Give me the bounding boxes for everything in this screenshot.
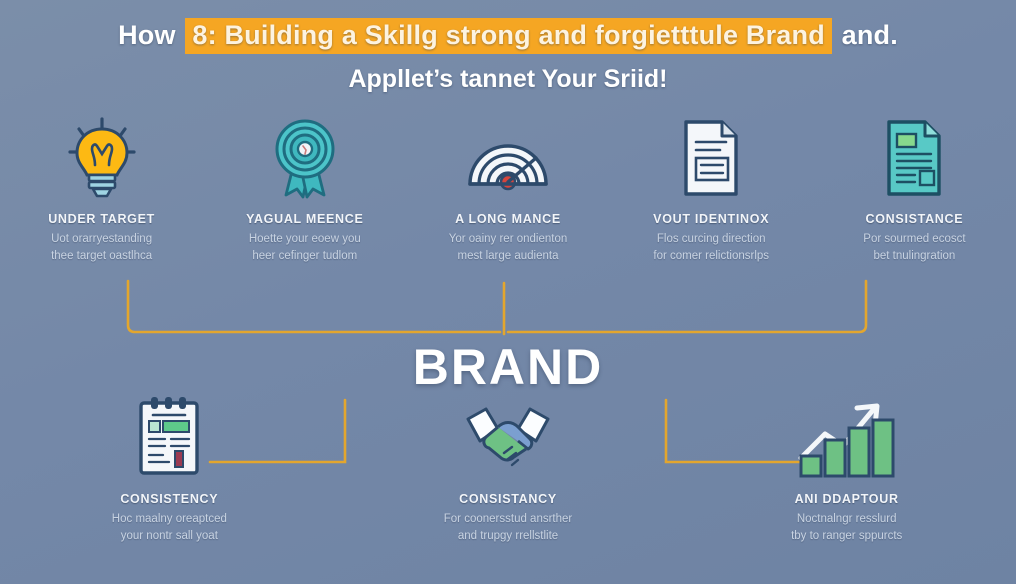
target-dartboard-icon — [464, 112, 552, 204]
info-item[interactable]: A LONG MANCE Yor oainy rer ondienton mes… — [406, 112, 609, 264]
item-title: VOUT IDENTINOX — [653, 212, 769, 226]
infographic-canvas: How 8: Building a Skillg strong and forg… — [0, 0, 1016, 584]
desc-line-1: Uot orarryestanding — [51, 233, 152, 245]
item-title: CONSISTANCE — [866, 212, 964, 226]
title-line-1: How 8: Building a Skillg strong and forg… — [0, 18, 1016, 54]
info-item[interactable]: CONSISTANCY For coonersstud ansrther and… — [339, 392, 678, 544]
item-title: UNDER TARGET — [48, 212, 155, 226]
page-title: How 8: Building a Skillg strong and forg… — [0, 18, 1016, 94]
item-title: A LONG MANCE — [455, 212, 561, 226]
desc-line-1: Hoette your eoew you — [249, 233, 361, 245]
desc-line-2: heer cefinger tudlom — [252, 250, 357, 262]
desc-line-1: Flos curcing direction — [657, 233, 766, 245]
item-description: Hoette your eoew you heer cefinger tudlo… — [249, 231, 361, 264]
info-item[interactable]: VOUT IDENTINOX Flos curcing direction fo… — [610, 112, 813, 264]
item-title: ANI DDAPTOUR — [795, 492, 899, 506]
item-description: Noctnalngr resslurd tby to ranger sppurc… — [791, 511, 902, 544]
info-item[interactable]: YAGUAL MEENCE Hoette your eoew you heer … — [203, 112, 406, 264]
item-description: Yor oainy rer ondienton mest large audie… — [449, 231, 568, 264]
info-item[interactable]: UNDER TARGET Uot orarryestanding thee ta… — [0, 112, 203, 264]
title-prefix: How — [118, 20, 176, 50]
bottom-item-row: CONSISTENCY Hoc maalny oreaptced your no… — [0, 392, 1016, 544]
item-title: YAGUAL MEENCE — [246, 212, 363, 226]
top-item-row: UNDER TARGET Uot orarryestanding thee ta… — [0, 112, 1016, 264]
desc-line-2: thee target oastlhca — [51, 250, 152, 262]
item-description: Por sourmed ecosct bet tnulingration — [863, 231, 965, 264]
desc-line-2: for comer relictionsrlps — [653, 250, 769, 262]
award-ribbon-icon — [268, 112, 342, 204]
desc-line-1: Por sourmed ecosct — [863, 233, 965, 245]
handshake-icon — [460, 392, 556, 484]
item-description: Hoc maalny oreaptced your nontr sall yoa… — [112, 511, 227, 544]
desc-line-1: Yor oainy rer ondienton — [449, 233, 568, 245]
lightbulb-icon — [63, 112, 141, 204]
document-page-icon — [678, 112, 744, 204]
desc-line-2: tby to ranger sppurcts — [791, 530, 902, 542]
item-description: Uot orarryestanding thee target oastlhca — [51, 231, 152, 264]
info-item[interactable]: CONSISTANCE Por sourmed ecosct bet tnuli… — [813, 112, 1016, 264]
center-keyword: BRAND — [0, 338, 1016, 396]
item-title: CONSISTENCY — [120, 492, 218, 506]
title-line-2: Appllet’s tannet Your Sriid! — [0, 65, 1016, 94]
desc-line-1: For coonersstud ansrther — [444, 513, 572, 525]
item-description: For coonersstud ansrther and trupgy rrel… — [444, 511, 572, 544]
document-teal-icon — [881, 112, 947, 204]
title-suffix: and. — [842, 20, 898, 50]
growth-chart-icon — [795, 392, 899, 484]
desc-line-2: and trupgy rrellstlite — [458, 530, 558, 542]
info-item[interactable]: CONSISTENCY Hoc maalny oreaptced your no… — [0, 392, 339, 544]
info-item[interactable]: ANI DDAPTOUR Noctnalngr resslurd tby to … — [677, 392, 1016, 544]
desc-line-2: mest large audienta — [457, 250, 558, 262]
title-highlight: 8: Building a Skillg strong and forgiett… — [185, 18, 832, 54]
desc-line-1: Noctnalngr resslurd — [797, 513, 897, 525]
desc-line-2: your nontr sall yoat — [121, 530, 218, 542]
item-title: CONSISTANCY — [459, 492, 557, 506]
desc-line-2: bet tnulingration — [873, 250, 955, 262]
clipboard-notepad-icon — [133, 392, 205, 484]
desc-line-1: Hoc maalny oreaptced — [112, 513, 227, 525]
item-description: Flos curcing direction for comer relicti… — [653, 231, 769, 264]
